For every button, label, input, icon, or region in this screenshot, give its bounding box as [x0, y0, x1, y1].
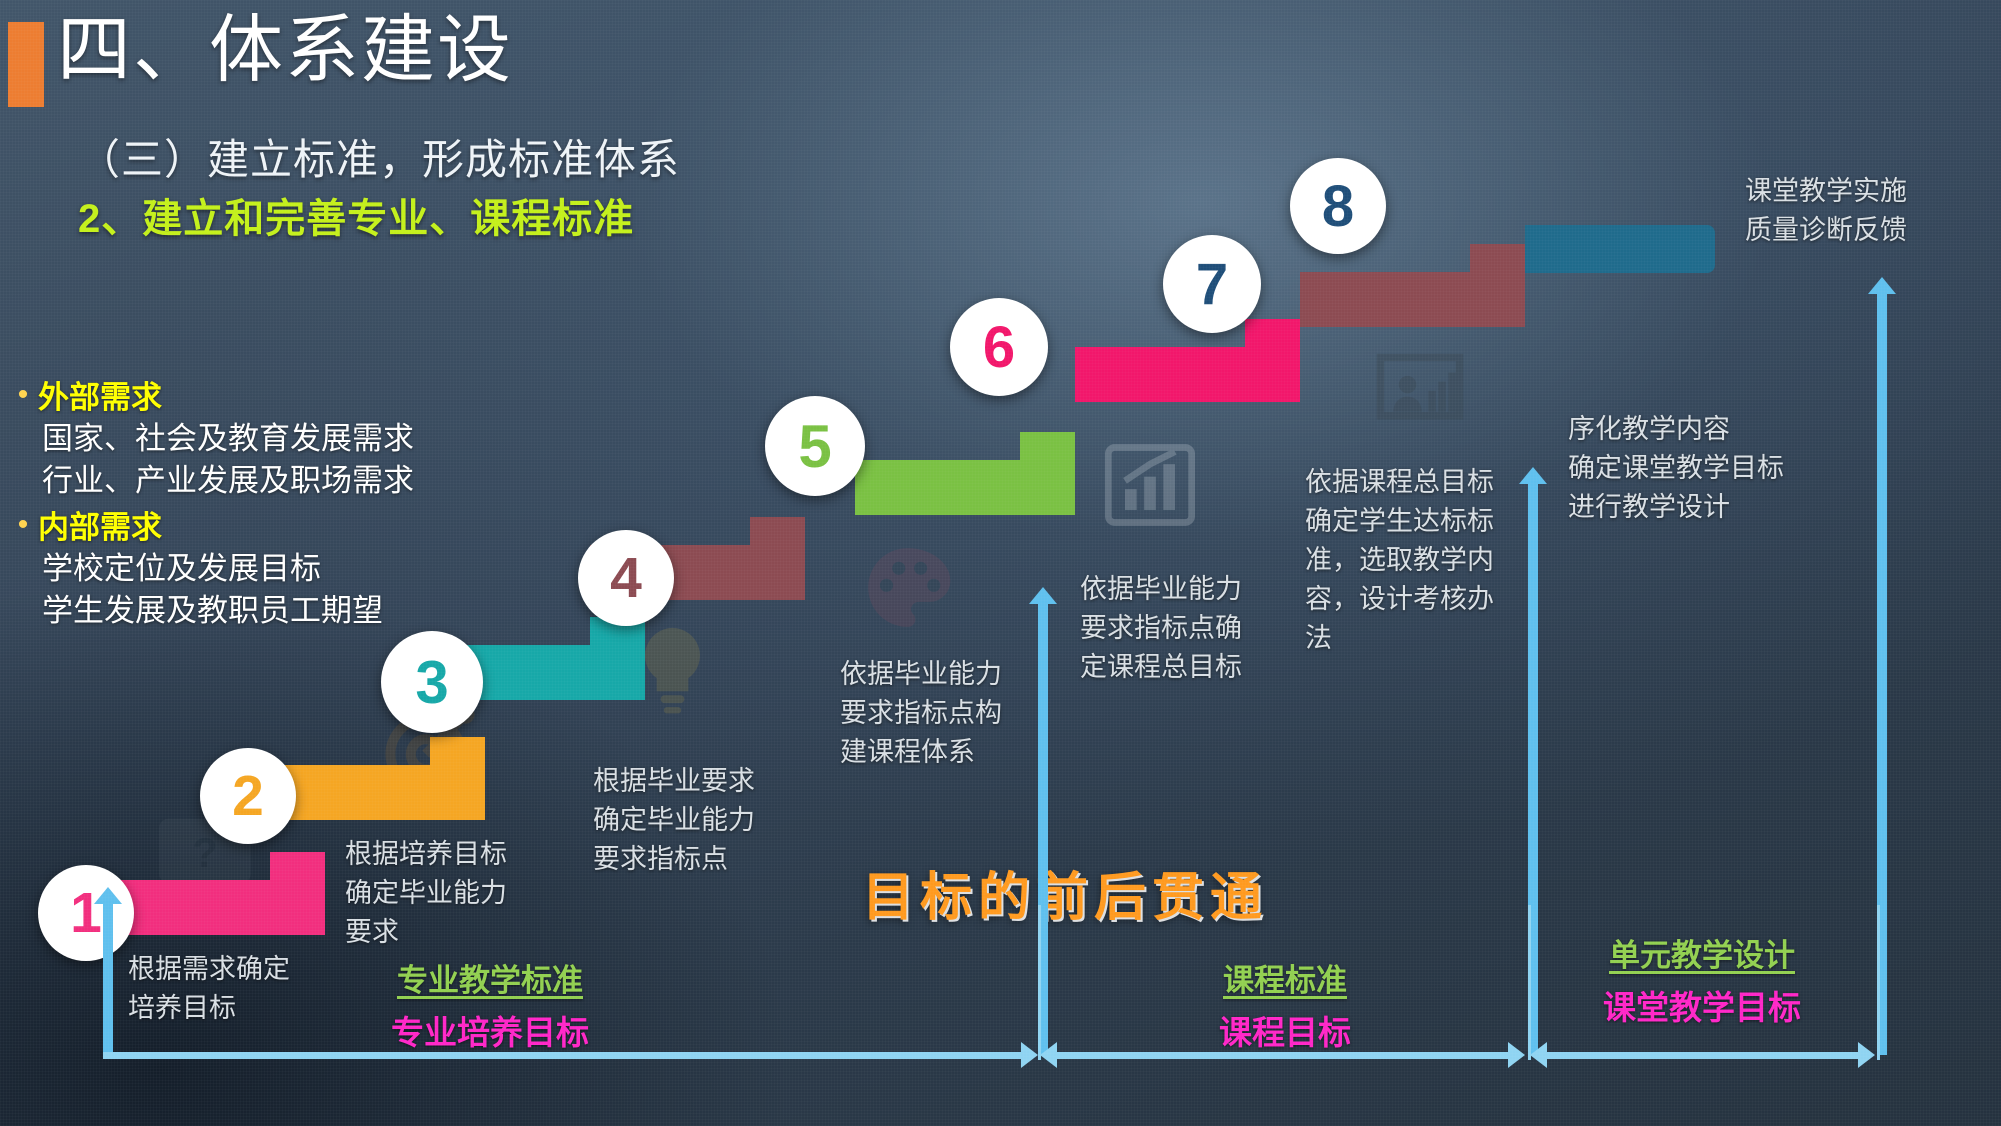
step-riser-5 [1020, 432, 1075, 472]
step-number-8[interactable]: 8 [1290, 158, 1386, 254]
step-number-6[interactable]: 6 [950, 298, 1048, 396]
legend-standard-label: 专业教学标准 [345, 955, 635, 1000]
legend-standard-label: 课程标准 [1140, 955, 1430, 1000]
bar-chart-icon [1100, 435, 1200, 540]
legend-group-1: 专业教学标准 专业培养目标 [345, 955, 635, 1054]
legend-divider-2 [1528, 905, 1531, 1060]
step-number-7[interactable]: 7 [1163, 235, 1261, 333]
requirements-list: • 外部需求 国家、社会及教育发展需求 行业、产业发展及职场需求 • 内部需求 … [8, 378, 438, 632]
step-riser-2 [430, 737, 485, 777]
legend-goal-label: 专业培养目标 [345, 1006, 635, 1054]
step-number-label: 7 [1196, 251, 1228, 318]
step-number-5[interactable]: 5 [765, 396, 865, 496]
step-text-6: 依据课程总目标 确定学生达标标 准，选取教学内 容，设计考核办 法 [1305, 463, 1525, 658]
step-number-label: 2 [232, 763, 264, 829]
presenter-icon [1370, 345, 1470, 450]
legend-goal-label: 课堂教学目标 [1557, 981, 1847, 1029]
step-number-label: 6 [983, 314, 1015, 381]
legend-divider-1 [1038, 905, 1041, 1060]
bullet-detail: 学校定位及发展目标 [42, 548, 438, 590]
step-text-8: 课堂教学实施 质量诊断反馈 [1745, 172, 2001, 250]
step-text-3: 根据毕业要求 确定毕业能力 要求指标点 [593, 762, 823, 879]
bullet-detail: 国家、社会及教育发展需求 [42, 418, 438, 460]
step-number-label: 8 [1322, 173, 1354, 240]
step-riser-7 [1470, 244, 1525, 284]
legend-goal-label: 课程目标 [1140, 1006, 1430, 1054]
legend-standard-label: 单元教学设计 [1557, 930, 1847, 975]
step-number-label: 5 [798, 412, 831, 481]
accent-bar [8, 22, 44, 107]
span-axis-3 [1545, 1052, 1860, 1059]
bullet-detail: 行业、产业发展及职场需求 [42, 460, 438, 502]
bullet-heading: 外部需求 [38, 378, 162, 418]
bullet-dot-icon: • [8, 378, 38, 412]
step-text-5: 依据毕业能力 要求指标点确 定课程总目标 [1080, 570, 1310, 687]
center-emphasis-label: 目标的前后贯通 [862, 855, 1268, 930]
step-number-2[interactable]: 2 [200, 748, 296, 844]
page-title: 四、体系建设 [57, 13, 513, 87]
palette-icon [855, 535, 960, 645]
bullet-dot-icon: • [8, 508, 38, 542]
list-item: • 外部需求 国家、社会及教育发展需求 行业、产业发展及职场需求 [8, 378, 438, 502]
svg-text:?: ? [192, 830, 217, 876]
step-number-label: 3 [415, 648, 448, 717]
page-subtitle: （三）建立标准，形成标准体系 [78, 126, 680, 187]
step-riser-1 [270, 852, 325, 892]
step-text-1: 根据需求确定 培养目标 [128, 950, 358, 1028]
list-item: • 内部需求 学校定位及发展目标 学生发展及教职员工期望 [8, 508, 438, 632]
bullet-detail: 学生发展及教职员工期望 [42, 590, 438, 632]
step-block-8[interactable] [1525, 225, 1715, 273]
step-number-4[interactable]: 4 [578, 530, 674, 626]
bullet-heading: 内部需求 [38, 508, 162, 548]
step-number-3[interactable]: 3 [381, 631, 483, 733]
step-text-7: 序化教学内容 确定课堂教学目标 进行教学设计 [1568, 410, 1868, 527]
slide-canvas: 四、体系建设 （三）建立标准，形成标准体系 2、建立和完善专业、课程标准 • 外… [0, 0, 2001, 1126]
step-text-4: 依据毕业能力 要求指标点构 建课程体系 [840, 655, 1070, 772]
step-text-2: 根据培养目标 确定毕业能力 要求 [345, 835, 575, 952]
legend-group-2: 课程标准 课程目标 [1140, 955, 1430, 1054]
step-riser-6 [1245, 319, 1300, 359]
legend-group-3: 单元教学设计 课堂教学目标 [1557, 930, 1847, 1029]
legend-divider-3 [1877, 905, 1880, 1060]
step-riser-4 [750, 517, 805, 557]
step-number-1[interactable]: 1 [38, 865, 134, 961]
section-heading: 2、建立和完善专业、课程标准 [78, 186, 634, 244]
step-number-label: 4 [610, 545, 642, 611]
flow-arrow-up-1 [103, 900, 113, 1055]
